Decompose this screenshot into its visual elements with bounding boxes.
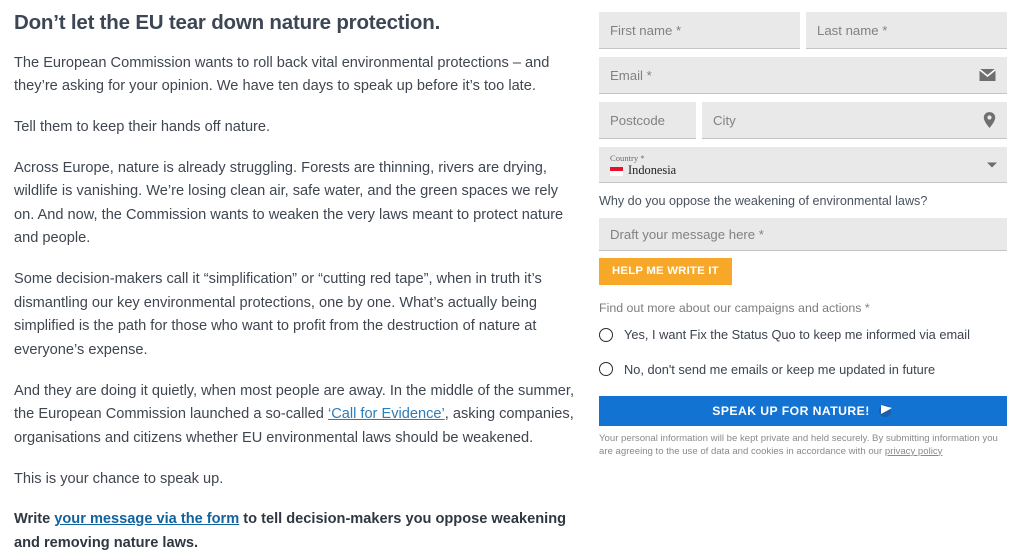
paragraph-simplification: Some decision-makers call it “simplifica…	[14, 268, 580, 363]
country-value-wrap: Indonesia	[610, 164, 996, 178]
city-input[interactable]: City	[702, 102, 1007, 139]
message-placeholder: Draft your message here *	[610, 227, 764, 242]
paragraph-call-to-action: Tell them to keep their hands off nature…	[14, 116, 580, 140]
postcode-placeholder: Postcode	[610, 113, 665, 128]
paragraph-text: Some decision-makers call it “simplifica…	[14, 271, 542, 358]
radio-label-no: No, don't send me emails or keep me upda…	[624, 362, 935, 377]
radio-label-yes: Yes, I want Fix the Status Quo to keep m…	[624, 327, 970, 342]
first-name-input[interactable]: First name *	[599, 12, 800, 49]
email-input[interactable]: Email *	[599, 57, 1007, 94]
send-plane-icon	[879, 404, 894, 419]
campaign-page: Don’t let the EU tear down nature protec…	[0, 0, 1024, 486]
paragraph-your-chance: This is your chance to speak up.	[14, 468, 580, 492]
submit-button-label: SPEAK UP FOR NATURE!	[712, 404, 870, 418]
article-column: Don’t let the EU tear down nature protec…	[0, 0, 598, 486]
address-row: Postcode City	[599, 102, 1007, 139]
chevron-down-icon[interactable]	[987, 162, 997, 167]
paragraph-call-for-evidence: And they are doing it quietly, when most…	[14, 380, 580, 451]
city-placeholder: City	[713, 113, 736, 128]
paragraph-intro: The European Commission wants to roll ba…	[14, 52, 580, 99]
message-question-label: Why do you oppose the weakening of envir…	[599, 193, 1007, 209]
message-form-link[interactable]: your message via the form	[54, 511, 239, 527]
consent-label: Find out more about our campaigns and ac…	[599, 301, 1007, 315]
country-value: Indonesia	[628, 164, 676, 178]
page-title: Don’t let the EU tear down nature protec…	[14, 10, 580, 36]
privacy-policy-link[interactable]: privacy policy	[885, 446, 943, 457]
postcode-input[interactable]: Postcode	[599, 102, 696, 139]
paragraph-write-message: Write your message via the form to tell …	[14, 508, 580, 555]
email-placeholder: Email *	[610, 68, 652, 83]
help-me-write-it-button[interactable]: HELP ME WRITE IT	[599, 258, 732, 285]
radio-circle-yes[interactable]	[599, 328, 613, 342]
paragraph-text: Across Europe, nature is already struggl…	[14, 160, 563, 247]
location-pin-icon	[983, 112, 996, 129]
paragraph-nature-struggling: Across Europe, nature is already struggl…	[14, 157, 580, 252]
envelope-icon	[979, 69, 996, 82]
signup-form: First name * Last name * Email * Pos	[598, 0, 1024, 486]
radio-circle-no[interactable]	[599, 362, 613, 376]
email-row: Email *	[599, 57, 1007, 94]
speak-up-for-nature-button[interactable]: SPEAK UP FOR NATURE!	[599, 396, 1007, 426]
first-name-placeholder: First name *	[610, 23, 681, 38]
legal-disclaimer: Your personal information will be kept p…	[599, 433, 1007, 458]
last-name-input[interactable]: Last name *	[806, 12, 1007, 49]
paragraph-text-before: Write	[14, 511, 54, 527]
radio-option-no[interactable]: No, don't send me emails or keep me upda…	[599, 362, 1007, 377]
indonesia-flag-icon	[610, 167, 623, 176]
message-textarea[interactable]: Draft your message here *	[599, 218, 1007, 251]
call-for-evidence-link[interactable]: ‘Call for Evidence’	[328, 406, 445, 422]
radio-option-yes[interactable]: Yes, I want Fix the Status Quo to keep m…	[599, 327, 1007, 342]
country-select[interactable]: Country * Indonesia	[599, 147, 1007, 183]
country-label: Country *	[610, 154, 996, 163]
paragraph-text: The European Commission wants to roll ba…	[14, 55, 549, 95]
name-row: First name * Last name *	[599, 12, 1007, 49]
paragraph-text: This is your chance to speak up.	[14, 471, 223, 487]
paragraph-text: Tell them to keep their hands off nature…	[14, 119, 270, 135]
last-name-placeholder: Last name *	[817, 23, 887, 38]
